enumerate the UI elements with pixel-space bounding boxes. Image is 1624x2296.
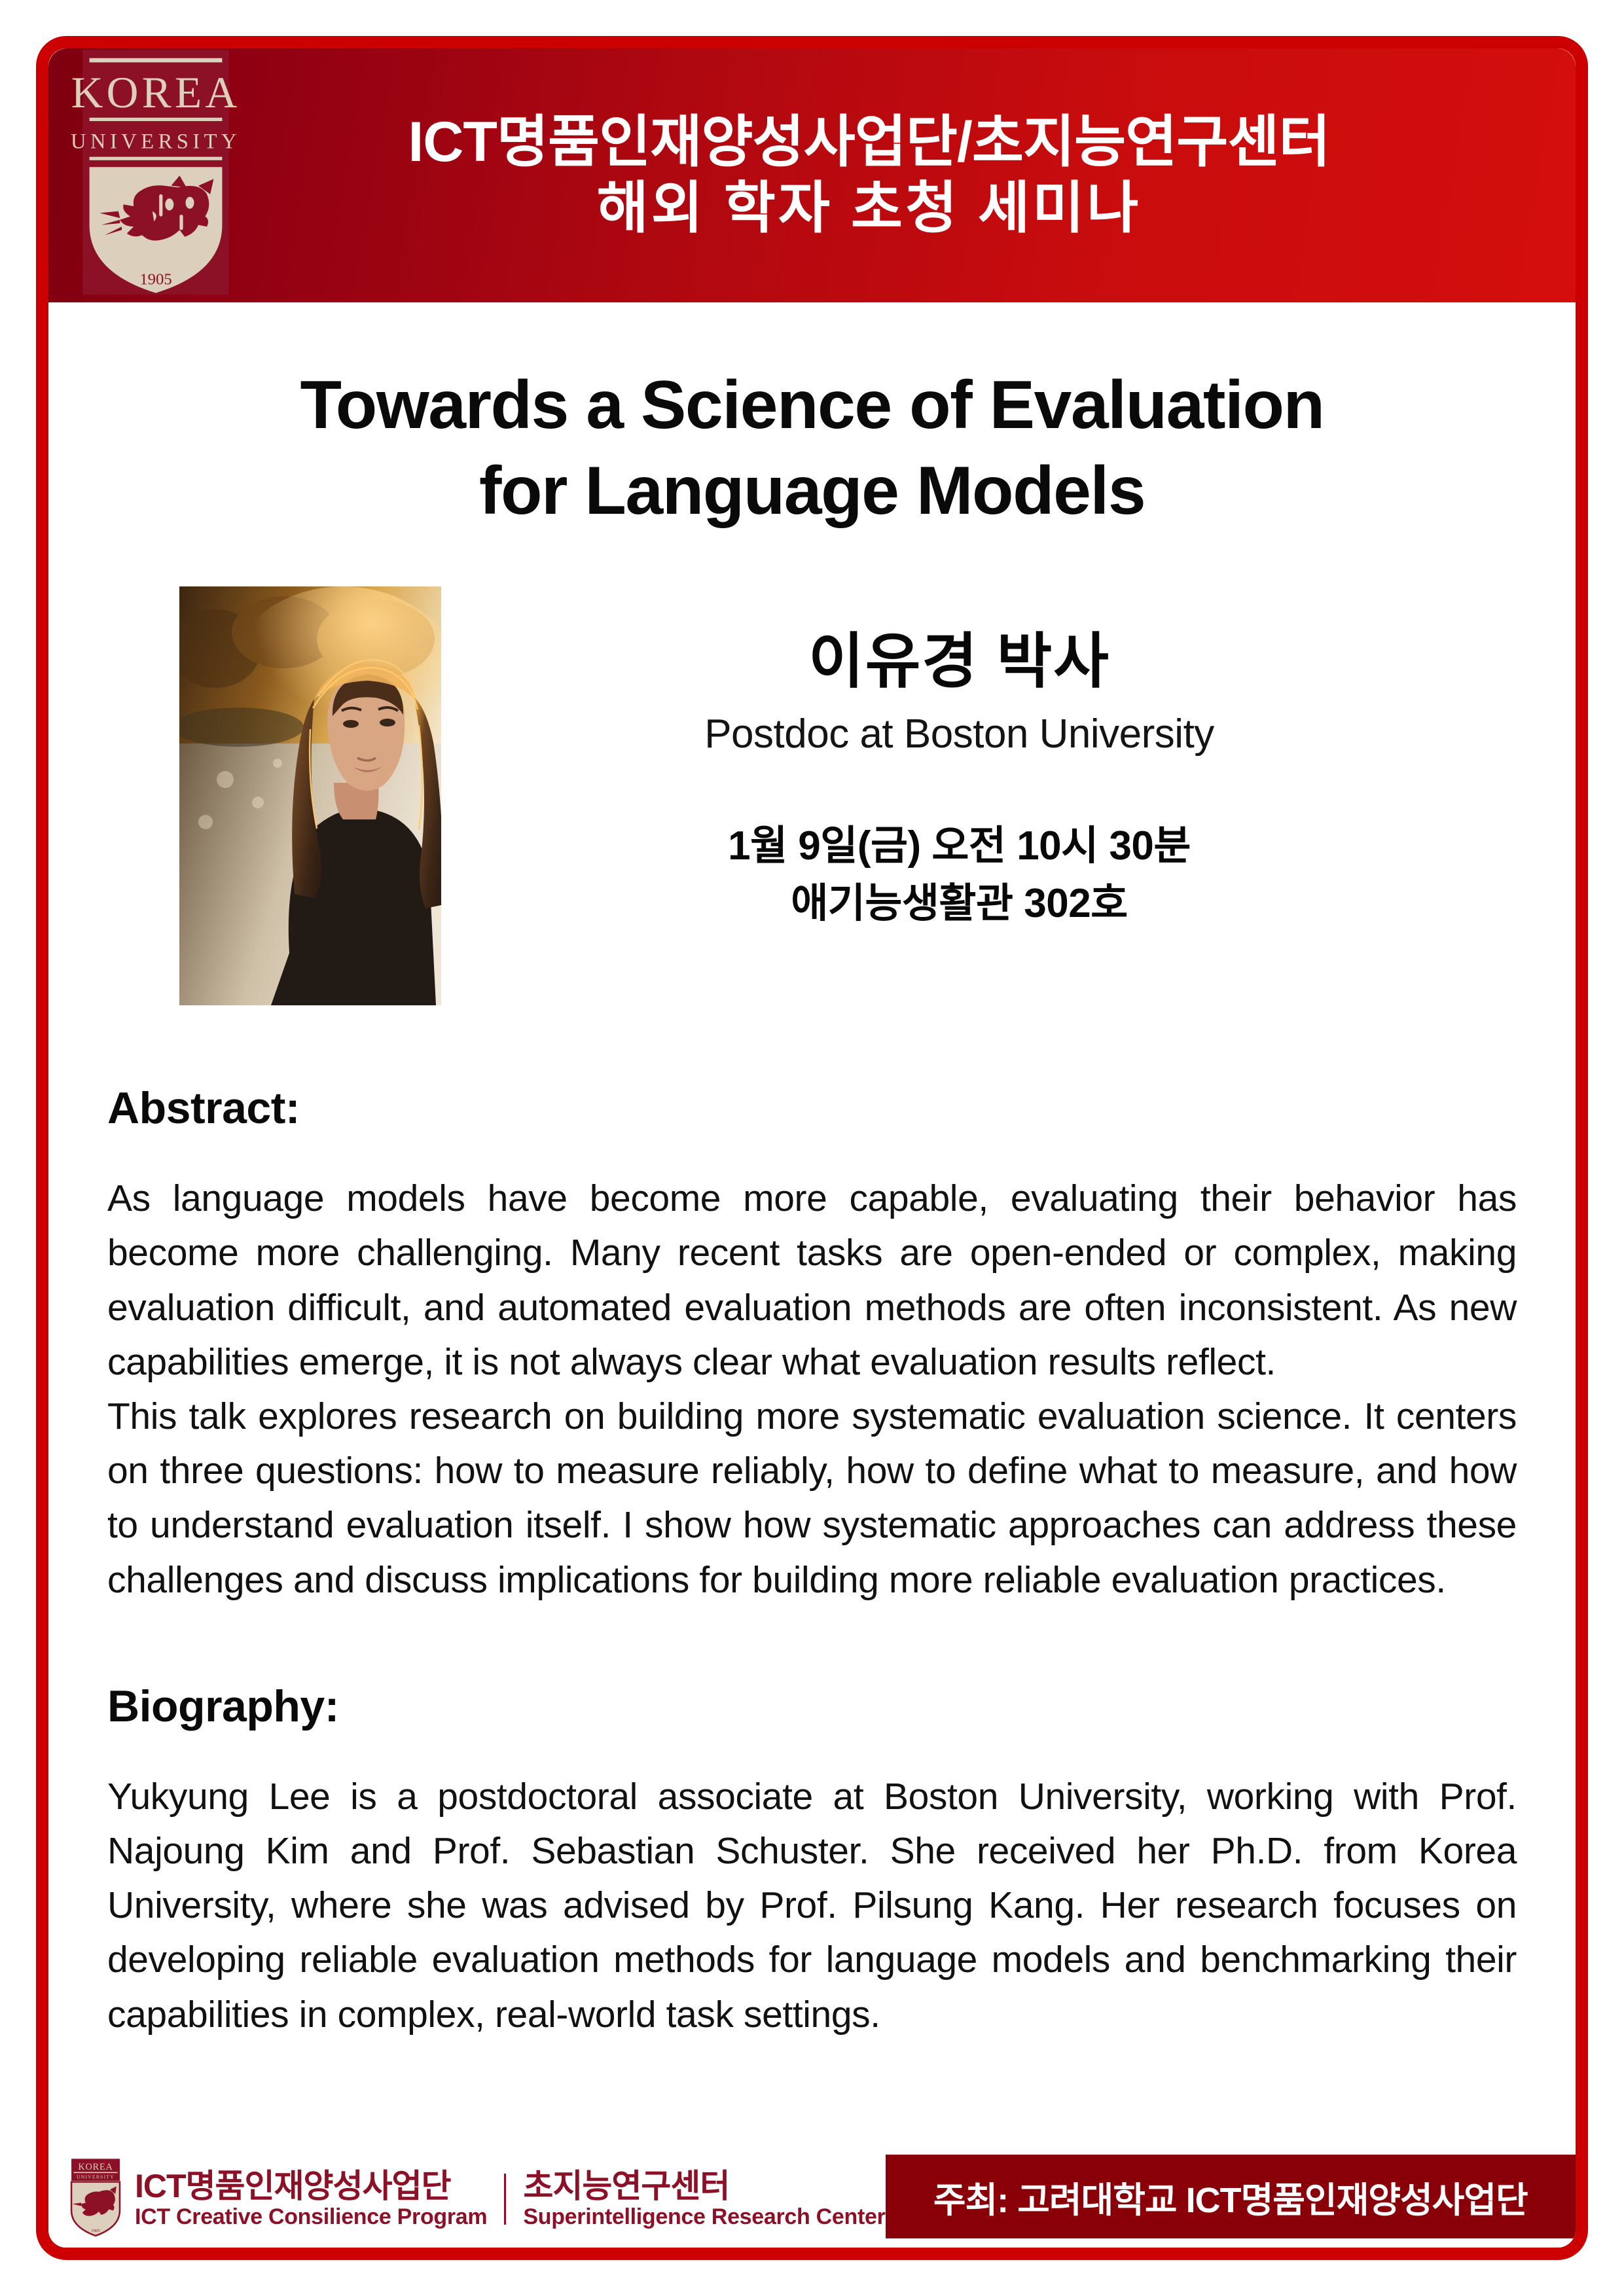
footer-brand-ict: ICT명품인재양성사업단 ICT Creative Consilience Pr… xyxy=(135,2168,487,2231)
speaker-section: 이유경 박사 Postdoc at Boston University 1월 9… xyxy=(48,586,1576,1005)
speaker-photo xyxy=(179,586,441,1005)
footer-crest-svg: KOREA UNIVERSITY 1905 xyxy=(68,2157,123,2239)
poster-frame: KOREA UNIVERSITY xyxy=(36,36,1588,2260)
poster-footer: KOREA UNIVERSITY 1905 ICT명품인재양성사업단 ICT C… xyxy=(48,2151,1576,2248)
footer-brand-src: 초지능연구센터 Superintelligence Research Cente… xyxy=(523,2168,885,2231)
header-title-group: ICT명품인재양성사업단/초지능연구센터 해외 학자 초청 세미나 xyxy=(202,109,1576,242)
speaker-details: 이유경 박사 Postdoc at Boston University 1월 9… xyxy=(441,586,1477,1005)
header-title-line1: ICT명품인재양성사업단/초지능연구센터 xyxy=(202,109,1536,175)
footer-brands: ICT명품인재양성사업단 ICT Creative Consilience Pr… xyxy=(135,2168,886,2231)
speaker-name: 이유경 박사 xyxy=(441,626,1477,698)
biography-paragraph-1: Yukyung Lee is a postdoctoral associate … xyxy=(107,1770,1517,2042)
abstract-paragraph-2: This talk explores research on building … xyxy=(107,1390,1517,1607)
event-datetime: 1월 9일(금) 오전 10시 30분 xyxy=(441,817,1477,875)
header-title-line2: 해외 학자 초청 세미나 xyxy=(202,175,1536,242)
biography-body: Yukyung Lee is a postdoctoral associate … xyxy=(107,1770,1517,2042)
footer-brand-ict-en: ICT Creative Consilience Program xyxy=(135,2204,487,2231)
svg-text:UNIVERSITY: UNIVERSITY xyxy=(77,2174,115,2179)
biography-section: Biography: Yukyung Lee is a postdoctoral… xyxy=(48,1681,1576,2042)
footer-korea-university-crest-logo: KOREA UNIVERSITY 1905 xyxy=(68,2157,123,2242)
footer-host-banner: 주최: 고려대학교 ICT명품인재양성사업단 xyxy=(886,2155,1576,2238)
talk-title-line2: for Language Models xyxy=(48,448,1576,534)
biography-heading: Biography: xyxy=(107,1681,1517,1732)
footer-brand-group: KOREA UNIVERSITY 1905 ICT명품인재양성사업단 ICT C… xyxy=(48,2151,886,2248)
speaker-affiliation: Postdoc at Boston University xyxy=(441,711,1477,757)
talk-title: Towards a Science of Evaluation for Lang… xyxy=(48,363,1576,534)
svg-text:KOREA: KOREA xyxy=(78,2162,113,2172)
footer-host-text: 주최: 고려대학교 ICT명품인재양성사업단 xyxy=(933,2171,1528,2223)
speaker-photo-svg xyxy=(179,586,441,1005)
svg-text:1905: 1905 xyxy=(139,270,171,288)
footer-brand-divider xyxy=(504,2174,506,2225)
abstract-heading: Abstract: xyxy=(107,1083,1517,1134)
talk-title-line1: Towards a Science of Evaluation xyxy=(48,363,1576,448)
event-location: 애기능생활관 302호 xyxy=(441,875,1477,933)
poster-header: KOREA UNIVERSITY xyxy=(48,48,1576,302)
footer-brand-src-en: Superintelligence Research Center xyxy=(523,2204,885,2231)
abstract-paragraph-1: As language models have become more capa… xyxy=(107,1172,1517,1390)
svg-text:1905: 1905 xyxy=(91,2229,100,2233)
footer-brand-src-ko: 초지능연구센터 xyxy=(523,2168,885,2204)
abstract-section: Abstract: As language models have become… xyxy=(48,1083,1576,1607)
footer-brand-ict-ko: ICT명품인재양성사업단 xyxy=(135,2168,487,2204)
abstract-body: As language models have become more capa… xyxy=(107,1172,1517,1607)
